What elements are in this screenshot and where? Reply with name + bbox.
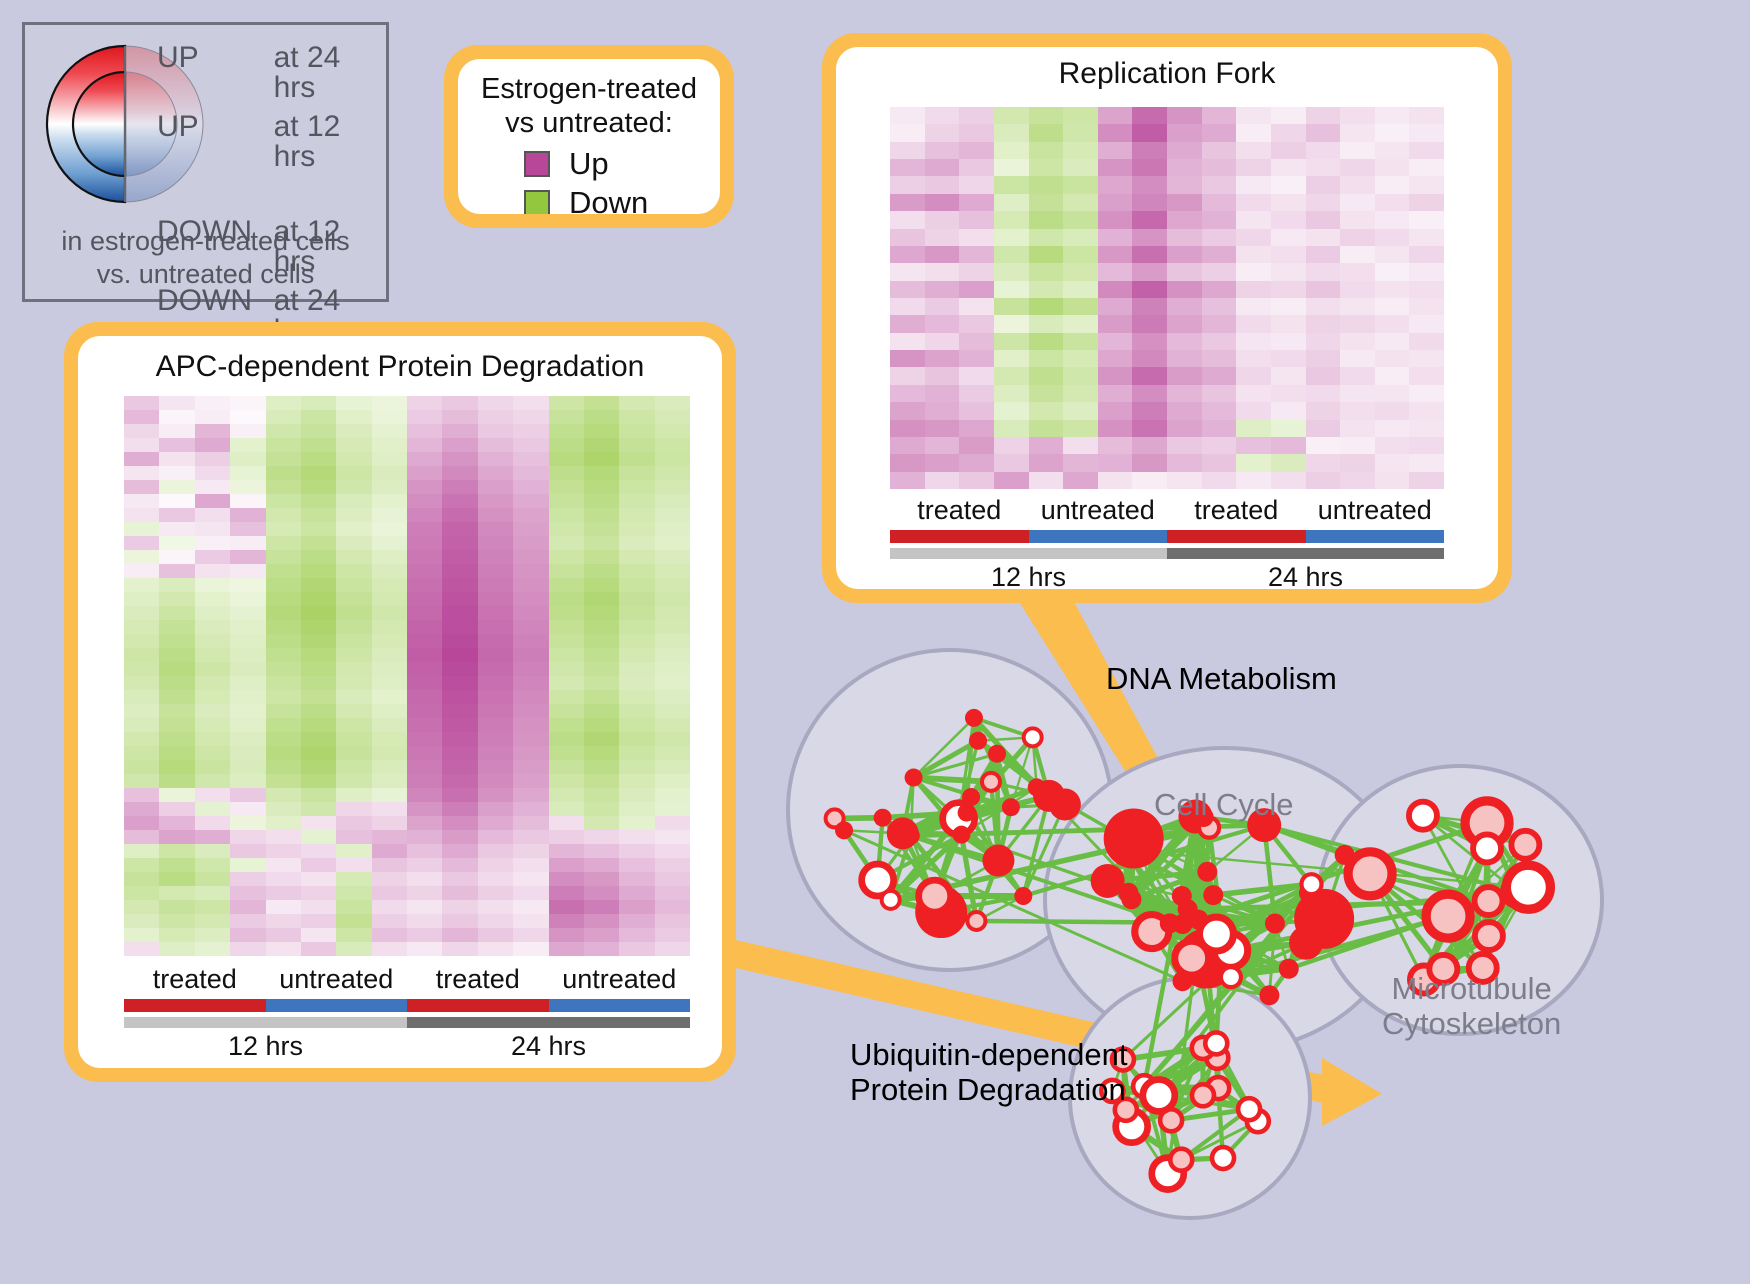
node-circle (982, 773, 1000, 791)
node-circle (1506, 865, 1550, 909)
node-circle (1091, 864, 1125, 898)
network-node[interactable] (919, 880, 951, 912)
node-circle (1221, 967, 1241, 987)
network-node[interactable] (1409, 802, 1437, 830)
network-node[interactable] (1473, 834, 1501, 862)
node-circle (967, 912, 985, 930)
node-circle (1473, 834, 1501, 862)
node-circle (1409, 802, 1437, 830)
node-circle (919, 880, 951, 912)
node-circle (1014, 887, 1032, 905)
node-circle (1511, 831, 1539, 859)
network-node[interactable] (1024, 728, 1042, 746)
node-circle (1348, 852, 1392, 896)
node-circle (1265, 913, 1285, 933)
node-circle (887, 817, 919, 849)
network-node[interactable] (1143, 1079, 1175, 1111)
network-node[interactable] (1203, 885, 1223, 905)
node-circle (1212, 1147, 1234, 1169)
node-circle (835, 821, 853, 839)
network-node[interactable] (874, 809, 892, 827)
node-circle (1475, 922, 1503, 950)
network-node[interactable] (882, 891, 900, 909)
network-node[interactable] (952, 826, 970, 844)
network-node[interactable] (1205, 1032, 1227, 1054)
network-node[interactable] (1199, 917, 1233, 951)
network-node[interactable] (1160, 913, 1180, 933)
network-node[interactable] (1265, 913, 1285, 933)
cluster-label-microtubule-cytoskeleton: Microtubule Cytoskeleton (1382, 972, 1561, 1041)
network-node[interactable] (1259, 985, 1279, 1005)
node-circle (1178, 899, 1198, 919)
node-circle (1203, 885, 1223, 905)
node-circle (1289, 926, 1323, 960)
node-circle (1028, 778, 1046, 796)
network-node[interactable] (1192, 1084, 1214, 1106)
network-edge (997, 754, 998, 861)
network-node[interactable] (1506, 865, 1550, 909)
network-node[interactable] (1178, 899, 1198, 919)
network-node[interactable] (988, 745, 1006, 763)
network-node[interactable] (1301, 874, 1321, 894)
network-node[interactable] (982, 845, 1014, 877)
node-circle (962, 788, 980, 806)
network-node[interactable] (962, 788, 980, 806)
network-node[interactable] (1475, 887, 1503, 915)
network-node[interactable] (1511, 831, 1539, 859)
network-node[interactable] (887, 817, 919, 849)
figure-canvas: UP at 24 hrs UP at 12 hrs DOWN at 12 hrs… (0, 0, 1750, 1279)
node-circle (982, 845, 1014, 877)
cluster-label-dna-metabolism: DNA Metabolism (1106, 662, 1337, 697)
network-node[interactable] (969, 732, 987, 750)
node-circle (969, 732, 987, 750)
network-node[interactable] (1279, 959, 1299, 979)
network-node[interactable] (905, 769, 923, 787)
node-circle (874, 809, 892, 827)
network-node[interactable] (1170, 1149, 1192, 1171)
network-node[interactable] (1348, 852, 1392, 896)
network-node[interactable] (1002, 798, 1020, 816)
node-circle (1426, 894, 1470, 938)
node-circle (1475, 887, 1503, 915)
node-circle (988, 745, 1006, 763)
node-circle (1205, 1032, 1227, 1054)
node-circle (905, 769, 923, 787)
node-circle (1002, 798, 1020, 816)
node-circle (952, 826, 970, 844)
network-node[interactable] (982, 773, 1000, 791)
node-circle (1199, 917, 1233, 951)
node-circle (1238, 1098, 1260, 1120)
network-node[interactable] (1475, 922, 1503, 950)
network-node[interactable] (1197, 862, 1217, 882)
network-node[interactable] (967, 912, 985, 930)
node-circle (882, 891, 900, 909)
network-node[interactable] (1028, 778, 1046, 796)
node-circle (1197, 862, 1217, 882)
node-circle (1024, 728, 1042, 746)
network-node[interactable] (965, 709, 983, 727)
network-node[interactable] (1212, 1147, 1234, 1169)
node-circle (1192, 1084, 1214, 1106)
node-circle (965, 709, 983, 727)
node-circle (958, 804, 976, 822)
network-node[interactable] (1049, 788, 1081, 820)
node-circle (1279, 959, 1299, 979)
network-graph (770, 600, 1750, 1279)
node-circle (1143, 1079, 1175, 1111)
node-circle (1170, 1149, 1192, 1171)
network-node[interactable] (1221, 967, 1241, 987)
network-node[interactable] (1091, 864, 1125, 898)
network-node[interactable] (1289, 926, 1323, 960)
network-node[interactable] (1238, 1098, 1260, 1120)
network-node[interactable] (1014, 887, 1032, 905)
node-circle (1301, 874, 1321, 894)
cluster-label-ubiquitin-degradation: Ubiquitin-dependent Protein Degradation (850, 1038, 1128, 1107)
cluster-label-cell-cycle: Cell Cycle (1154, 788, 1294, 823)
node-circle (1049, 788, 1081, 820)
network-node[interactable] (1426, 894, 1470, 938)
node-circle (1160, 913, 1180, 933)
node-circle (1259, 985, 1279, 1005)
pathway-network-diagram: DNA Metabolism Cell Cycle Microtubule Cy… (770, 600, 1750, 1279)
network-node[interactable] (835, 821, 853, 839)
network-node[interactable] (958, 804, 976, 822)
